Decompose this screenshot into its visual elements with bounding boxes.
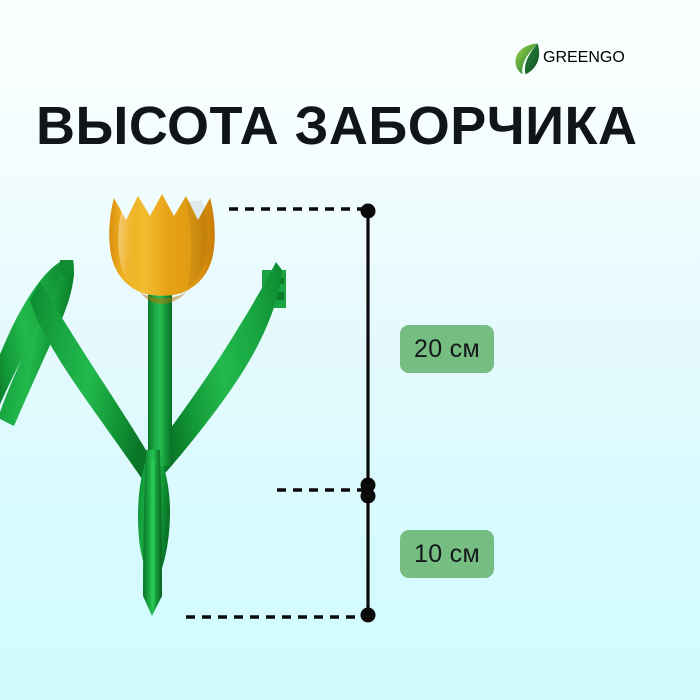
- garden-fence-tulip-illustration: [0, 150, 330, 670]
- measurement-badge-upper: 20 см: [400, 325, 494, 373]
- dimension-dot-mid-lower: [361, 489, 376, 504]
- ground-spike: [143, 450, 162, 616]
- dimension-dot-top: [361, 204, 376, 219]
- product-image: [0, 150, 330, 670]
- dimension-dot-bottom: [361, 608, 376, 623]
- tulip-stem: [148, 266, 172, 466]
- leaf-icon: [513, 41, 541, 75]
- brand-logo: GREENGO: [513, 38, 625, 78]
- brand-name: GREENGO: [543, 49, 625, 67]
- measurement-badge-lower: 10 см: [400, 530, 494, 578]
- tulip-flower-head: [109, 194, 215, 304]
- dimension-dot-mid-upper: [361, 478, 376, 493]
- infographic-canvas: GREENGO ВЫСОТА ЗАБОРЧИКА: [0, 0, 700, 700]
- page-title: ВЫСОТА ЗАБОРЧИКА: [36, 98, 637, 155]
